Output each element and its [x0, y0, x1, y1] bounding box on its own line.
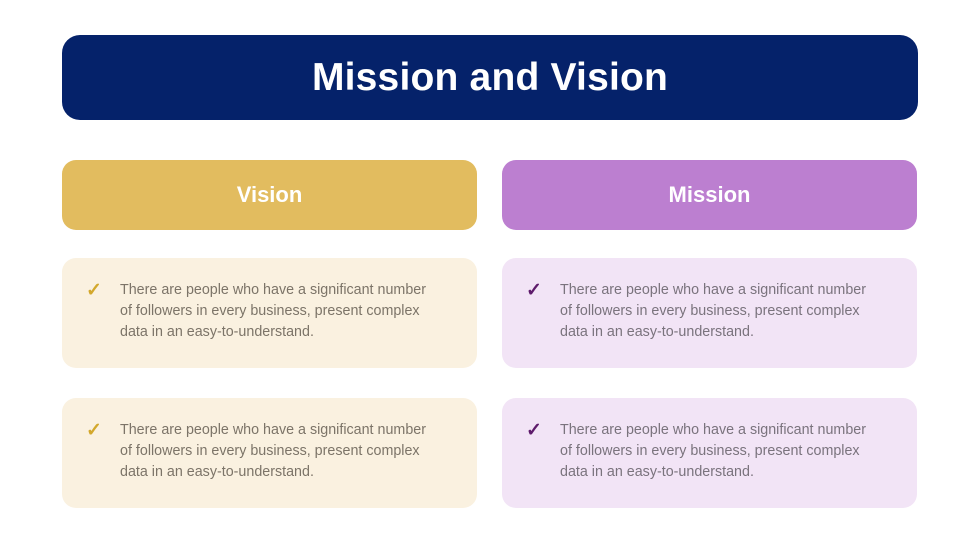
bullet-text: There are people who have a significant …: [120, 280, 438, 343]
columns-container: Vision ✓ There are people who have a sig…: [62, 160, 918, 516]
check-mark-icon: ✓: [86, 421, 108, 441]
bullet-card[interactable]: ✓ There are people who have a significan…: [502, 258, 917, 368]
bullet-card[interactable]: ✓ There are people who have a significan…: [62, 258, 477, 368]
column-header-vision[interactable]: Vision: [62, 160, 477, 230]
cards-list-vision: ✓ There are people who have a significan…: [62, 258, 477, 508]
bullet-text: There are people who have a significant …: [560, 280, 878, 343]
bullet-card[interactable]: ✓ There are people who have a significan…: [62, 398, 477, 508]
check-mark-icon: ✓: [526, 421, 548, 441]
page-title: Mission and Vision: [312, 58, 668, 97]
column-header-mission[interactable]: Mission: [502, 160, 917, 230]
title-banner: Mission and Vision: [62, 35, 918, 120]
column-header-label-mission: Mission: [669, 184, 751, 206]
column-mission: Mission ✓ There are people who have a si…: [502, 160, 917, 516]
slide-canvas: Mission and Vision Vision ✓ There are pe…: [0, 0, 980, 551]
column-vision: Vision ✓ There are people who have a sig…: [62, 160, 477, 516]
column-header-label-vision: Vision: [237, 184, 303, 206]
bullet-text: There are people who have a significant …: [120, 420, 438, 483]
check-mark-icon: ✓: [526, 281, 548, 301]
cards-list-mission: ✓ There are people who have a significan…: [502, 258, 917, 508]
check-mark-icon: ✓: [86, 281, 108, 301]
bullet-card[interactable]: ✓ There are people who have a significan…: [502, 398, 917, 508]
bullet-text: There are people who have a significant …: [560, 420, 878, 483]
